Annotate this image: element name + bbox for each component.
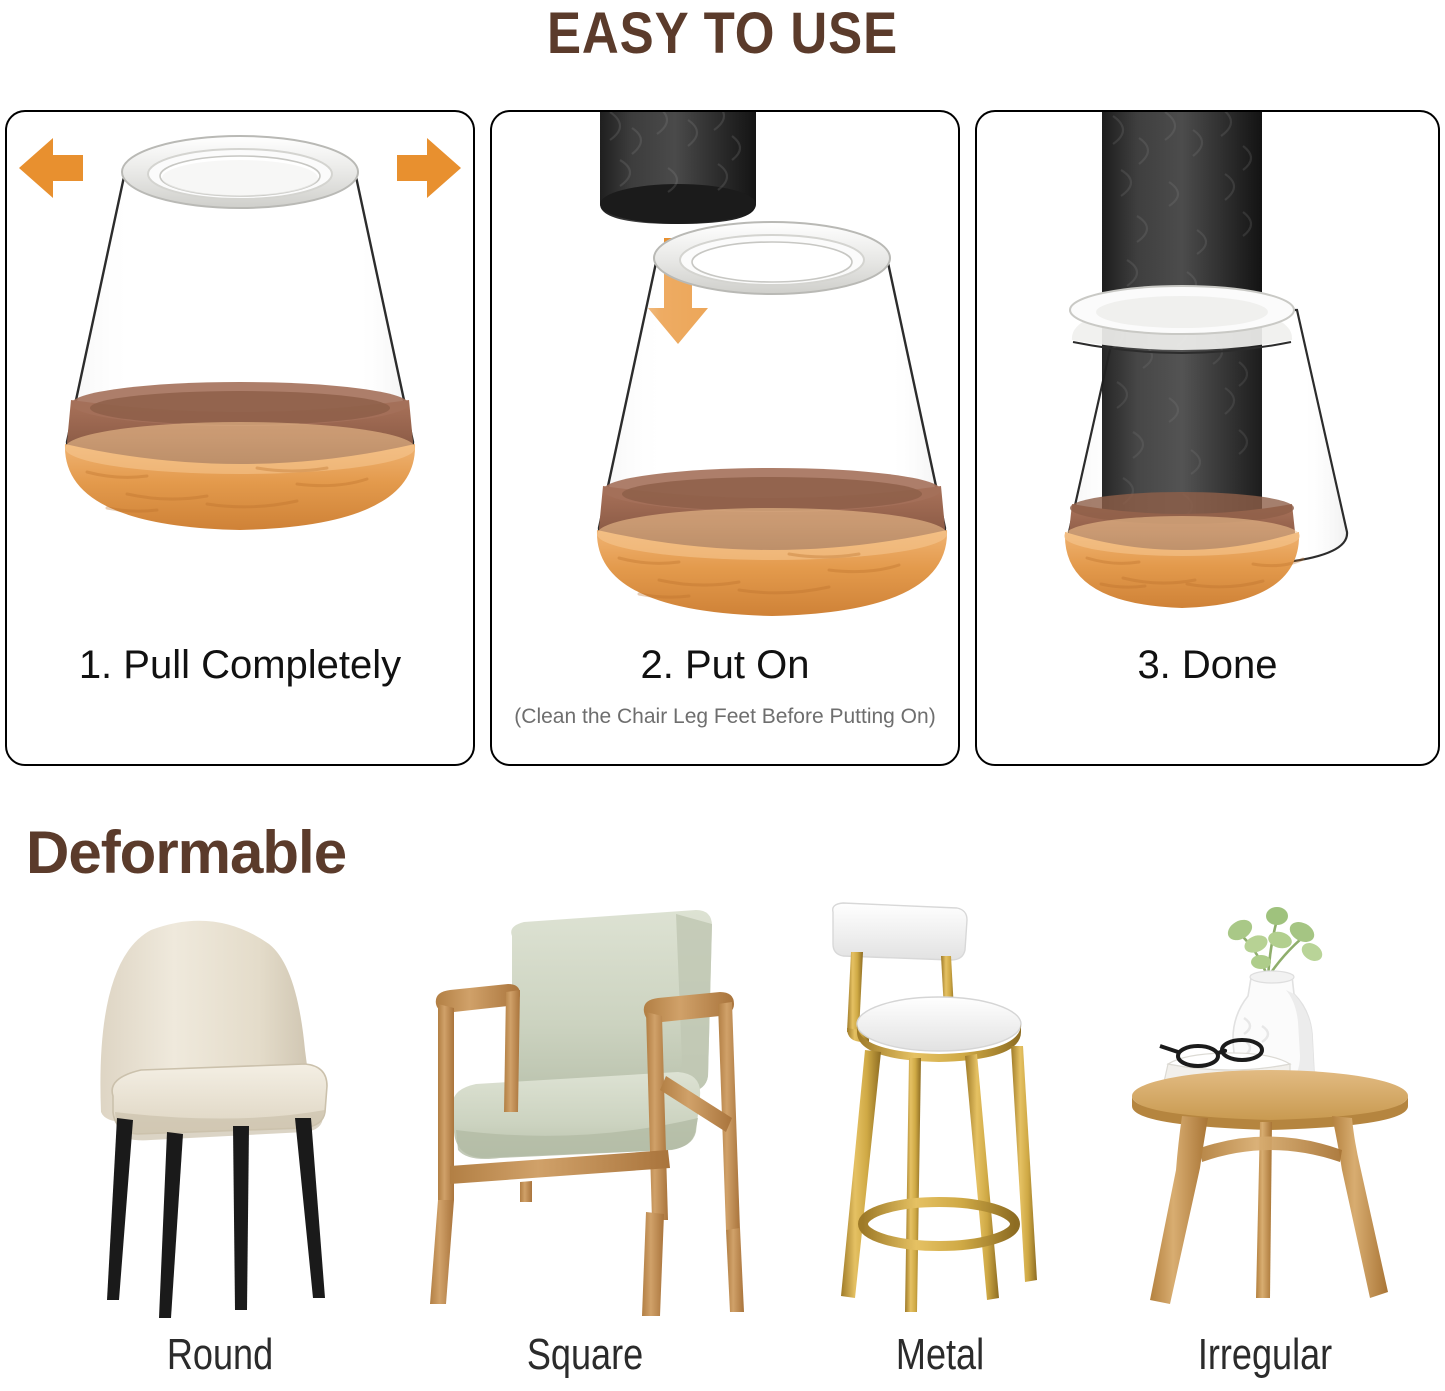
- step-2-subcaption: (Clean the Chair Leg Feet Before Putting…: [492, 704, 958, 730]
- deformable-heading: Deformable: [26, 818, 346, 888]
- step-3-illustration: [977, 112, 1438, 632]
- table-legs: [1150, 1116, 1388, 1304]
- furniture-label-round: Round: [118, 1328, 323, 1382]
- plant-icon: [1224, 907, 1325, 978]
- arrow-right-icon: [397, 138, 461, 198]
- black-chair-leg-icon: [600, 112, 756, 224]
- step-1-illustration: [7, 112, 473, 632]
- cap-rim-icon: [1070, 286, 1294, 353]
- wooden-armchair-icon: [420, 900, 750, 1320]
- furniture-item-round: [55, 900, 385, 1320]
- step-panel-2: 2. Put On (Clean the Chair Leg Feet Befo…: [490, 110, 960, 766]
- furniture-label-irregular: Irregular: [1163, 1328, 1368, 1382]
- furniture-item-square: [420, 900, 750, 1320]
- furniture-item-metal: [805, 900, 1075, 1320]
- arrow-left-icon: [19, 138, 83, 198]
- stool-legs: [841, 1046, 1037, 1312]
- step-2-illustration: [492, 112, 958, 632]
- furniture-label-square: Square: [478, 1328, 691, 1382]
- step-panel-3: 3. Done: [975, 110, 1440, 766]
- furniture-item-irregular: [1120, 900, 1420, 1320]
- step-2-caption: 2. Put On: [492, 642, 958, 688]
- stool-backrest: [833, 903, 967, 960]
- step-panel-1: 1. Pull Completely: [5, 110, 475, 766]
- furniture-row: [0, 900, 1445, 1320]
- furniture-label-metal: Metal: [842, 1328, 1039, 1382]
- dining-chair-icon: [55, 900, 385, 1320]
- furniture-labels: Round Square Metal Irregular: [0, 1328, 1445, 1388]
- gold-bar-stool-icon: [805, 900, 1075, 1320]
- steps-container: 1. Pull Completely: [5, 110, 1440, 766]
- chair-legs: [107, 1118, 325, 1318]
- stool-seat: [857, 997, 1021, 1051]
- wooden-side-table-icon: [1120, 900, 1420, 1320]
- black-chair-leg-icon: [1102, 112, 1262, 308]
- page-title: EASY TO USE: [87, 2, 1359, 66]
- step-1-caption: 1. Pull Completely: [7, 642, 473, 688]
- step-3-caption: 3. Done: [977, 642, 1438, 688]
